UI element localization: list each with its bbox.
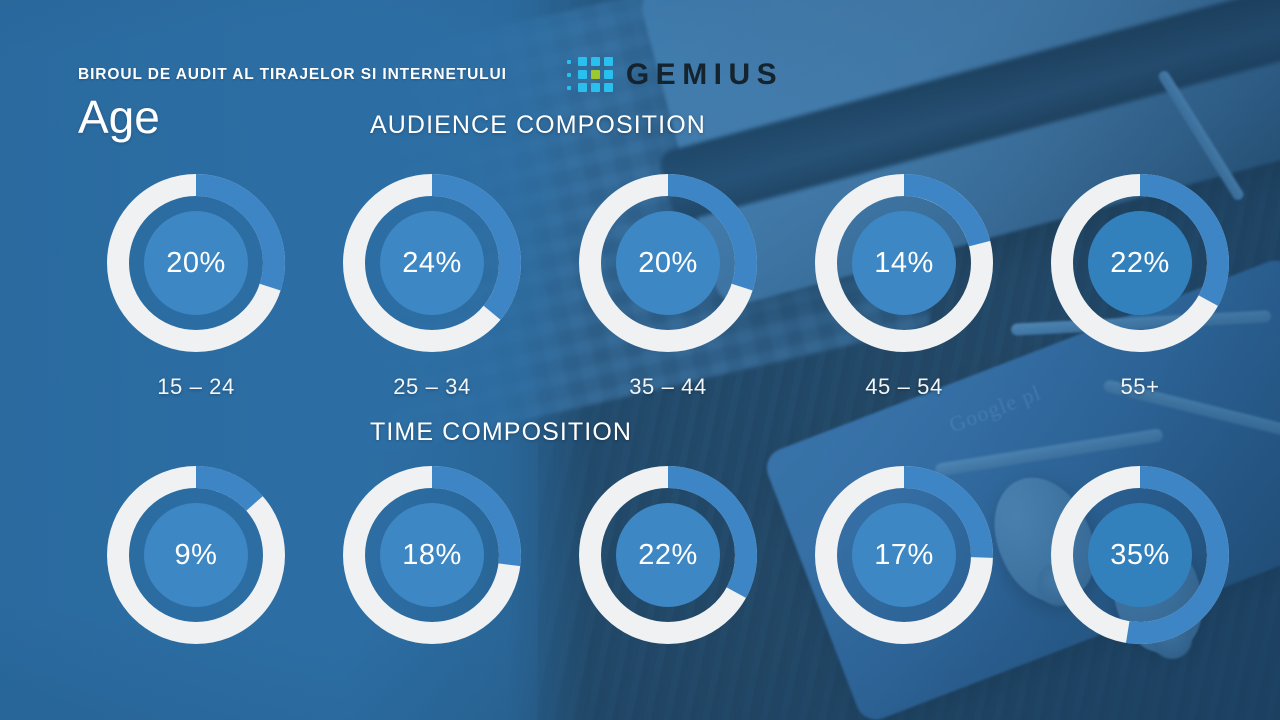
- donut-cell: 17%: [786, 460, 1022, 650]
- donut-cell: 20%15 – 24: [78, 168, 314, 400]
- donut-chart: 20%: [573, 168, 763, 358]
- donut-percentage-label: 20%: [166, 249, 226, 278]
- donut-chart: 22%: [1045, 168, 1235, 358]
- donut-chart: 18%: [337, 460, 527, 650]
- donut-hub: 35%: [1088, 503, 1192, 607]
- donut-hub: 9%: [144, 503, 248, 607]
- logo-dot-grid-icon: [565, 57, 613, 92]
- donut-percentage-label: 18%: [402, 541, 462, 570]
- gemius-logo: GEMIUS: [565, 57, 783, 92]
- donut-hub: 22%: [616, 503, 720, 607]
- time-composition-row: 9%18%22%17%35%: [0, 460, 1280, 650]
- header: BIROUL DE AUDIT AL TIRAJELOR SI INTERNET…: [78, 57, 783, 92]
- donut-hub: 22%: [1088, 211, 1192, 315]
- donut-chart: 22%: [573, 460, 763, 650]
- age-group-label: 15 – 24: [157, 374, 235, 400]
- donut-hub: 17%: [852, 503, 956, 607]
- audience-composition-row: 20%15 – 2424%25 – 3420%35 – 4414%45 – 54…: [0, 168, 1280, 400]
- donut-hub: 24%: [380, 211, 484, 315]
- donut-percentage-label: 24%: [402, 249, 462, 278]
- age-group-label: 25 – 34: [393, 374, 471, 400]
- donut-percentage-label: 17%: [874, 541, 934, 570]
- donut-cell: 9%: [78, 460, 314, 650]
- donut-chart: 17%: [809, 460, 999, 650]
- donut-cell: 14%45 – 54: [786, 168, 1022, 400]
- donut-cell: 24%25 – 34: [314, 168, 550, 400]
- donut-percentage-label: 20%: [638, 249, 698, 278]
- section-title-audience: AUDIENCE COMPOSITION: [370, 111, 706, 140]
- donut-chart: 24%: [337, 168, 527, 358]
- donut-percentage-label: 22%: [638, 541, 698, 570]
- donut-chart: 9%: [101, 460, 291, 650]
- donut-chart: 14%: [809, 168, 999, 358]
- donut-hub: 14%: [852, 211, 956, 315]
- donut-percentage-label: 22%: [1110, 249, 1170, 278]
- donut-chart: 35%: [1045, 460, 1235, 650]
- age-group-label: 45 – 54: [865, 374, 943, 400]
- donut-cell: 22%55+: [1022, 168, 1258, 400]
- donut-hub: 20%: [144, 211, 248, 315]
- slide: Google pl BIROUL DE AUDIT AL TIRAJELOR S…: [0, 0, 1280, 720]
- donut-hub: 18%: [380, 503, 484, 607]
- slide-content: BIROUL DE AUDIT AL TIRAJELOR SI INTERNET…: [0, 0, 1280, 720]
- donut-cell: 35%: [1022, 460, 1258, 650]
- donut-hub: 20%: [616, 211, 720, 315]
- donut-cell: 22%: [550, 460, 786, 650]
- section-title-time: TIME COMPOSITION: [370, 418, 632, 447]
- donut-percentage-label: 35%: [1110, 541, 1170, 570]
- donut-cell: 20%35 – 44: [550, 168, 786, 400]
- donut-cell: 18%: [314, 460, 550, 650]
- donut-percentage-label: 9%: [175, 541, 218, 570]
- donut-percentage-label: 14%: [874, 249, 934, 278]
- organization-name: BIROUL DE AUDIT AL TIRAJELOR SI INTERNET…: [78, 66, 507, 84]
- logo-wordmark: GEMIUS: [626, 60, 783, 90]
- age-group-label: 55+: [1120, 374, 1159, 400]
- donut-chart: 20%: [101, 168, 291, 358]
- page-title: Age: [78, 94, 160, 140]
- age-group-label: 35 – 44: [629, 374, 707, 400]
